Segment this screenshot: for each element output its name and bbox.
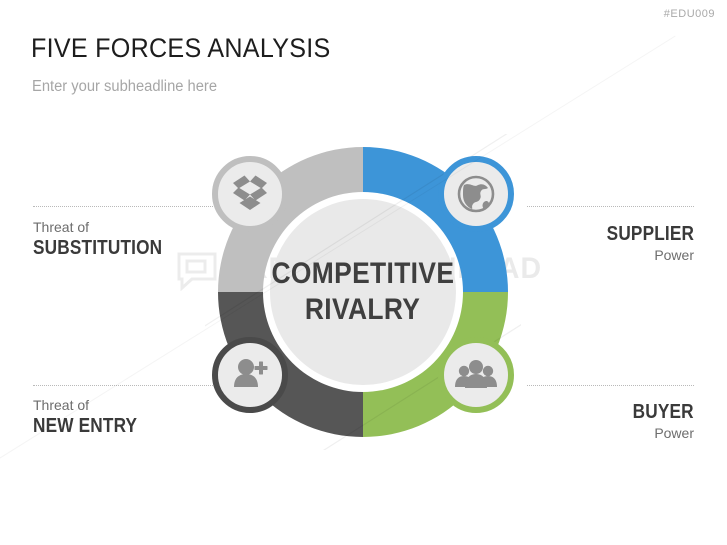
force-icon-badge-buyer [441, 340, 511, 410]
five-forces-diagram: COMPETITIVE RIVALRY [205, 134, 521, 450]
leader-line-substitution [33, 206, 213, 208]
force-title-new-entry: NEW ENTRY [33, 414, 137, 438]
template-code-label: #EDU009 [664, 8, 715, 20]
force-title-buyer: BUYER [633, 400, 694, 424]
force-title-substitution: SUBSTITUTION [33, 236, 162, 260]
leader-line-buyer [527, 385, 694, 387]
force-eyebrow-substitution: Threat of [33, 218, 187, 236]
center-disc [270, 199, 456, 385]
force-icon-badge-substitution [215, 159, 285, 229]
force-eyebrow-new-entry: Threat of [33, 396, 157, 414]
force-label-supplier[interactable]: SUPPLIER Power [590, 222, 694, 264]
page-subtitle[interactable]: Enter your subheadline here [32, 78, 217, 96]
force-title-supplier: SUPPLIER [607, 222, 694, 246]
force-label-new-entry[interactable]: Threat of NEW ENTRY [33, 396, 157, 438]
page-title: FIVE FORCES ANALYSIS [31, 33, 331, 63]
slide-canvas: #EDU009 FIVE FORCES ANALYSIS Enter your … [0, 0, 727, 545]
force-label-buyer[interactable]: BUYER Power [621, 400, 694, 442]
force-icon-badge-new-entry [215, 340, 285, 410]
force-label-substitution[interactable]: Threat of SUBSTITUTION [33, 218, 187, 260]
leader-line-supplier [527, 206, 694, 208]
force-icon-badge-supplier [441, 159, 511, 229]
force-eyebrow-buyer: Power [621, 424, 694, 442]
force-eyebrow-supplier: Power [590, 246, 694, 264]
leader-line-new-entry [33, 385, 213, 387]
